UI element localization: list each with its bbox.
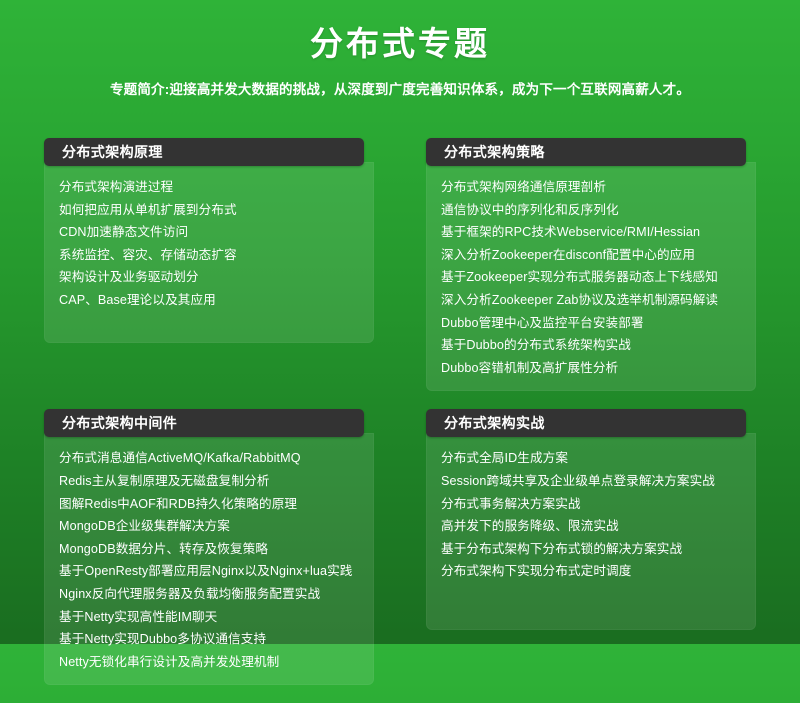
card-item[interactable]: 深入分析Zookeeper Zab协议及选举机制源码解读 <box>426 289 756 312</box>
card-item[interactable]: CDN加速静态文件访问 <box>44 221 374 244</box>
card-item[interactable]: 如何把应用从单机扩展到分布式 <box>44 199 374 222</box>
card-item[interactable]: CAP、Base理论以及其应用 <box>44 289 374 312</box>
card-item[interactable]: 基于Netty实现Dubbo多协议通信支持 <box>44 628 374 651</box>
card-grid: 分布式架构原理分布式架构演进过程如何把应用从单机扩展到分布式CDN加速静态文件访… <box>44 138 756 703</box>
course-card: 分布式架构原理分布式架构演进过程如何把应用从单机扩展到分布式CDN加速静态文件访… <box>44 138 374 391</box>
card-item[interactable]: Dubbo管理中心及监控平台安装部署 <box>426 312 756 335</box>
card-item[interactable]: 架构设计及业务驱动划分 <box>44 266 374 289</box>
card-item[interactable]: 基于Zookeeper实现分布式服务器动态上下线感知 <box>426 266 756 289</box>
card-item[interactable]: Dubbo容错机制及高扩展性分析 <box>426 357 756 380</box>
card-item[interactable]: 分布式全局ID生成方案 <box>426 447 756 470</box>
card-item[interactable]: 基于Netty实现高性能IM聊天 <box>44 606 374 629</box>
card-item[interactable]: 分布式事务解决方案实战 <box>426 493 756 516</box>
card-item[interactable]: 基于Dubbo的分布式系统架构实战 <box>426 334 756 357</box>
card-item[interactable]: 高并发下的服务降级、限流实战 <box>426 515 756 538</box>
card-item[interactable]: 基于框架的RPC技术Webservice/RMI/Hessian <box>426 221 756 244</box>
card-item[interactable]: Redis主从复制原理及无磁盘复制分析 <box>44 470 374 493</box>
card-item[interactable]: 图解Redis中AOF和RDB持久化策略的原理 <box>44 493 374 516</box>
hero-section: 分布式专题 专题简介:迎接高并发大数据的挑战，从深度到广度完善知识体系，成为下一… <box>0 0 800 100</box>
card-item[interactable]: 分布式架构下实现分布式定时调度 <box>426 560 756 583</box>
card-title: 分布式架构实战 <box>426 409 746 437</box>
page-title: 分布式专题 <box>0 22 800 66</box>
card-item[interactable]: Netty无锁化串行设计及高并发处理机制 <box>44 651 374 674</box>
card-title: 分布式架构原理 <box>44 138 364 166</box>
card-item[interactable]: Session跨域共享及企业级单点登录解决方案实战 <box>426 470 756 493</box>
page-subtitle: 专题简介:迎接高并发大数据的挑战，从深度到广度完善知识体系，成为下一个互联网高薪… <box>0 80 800 100</box>
card-item[interactable]: 系统监控、容灾、存储动态扩容 <box>44 244 374 267</box>
course-card: 分布式架构策略分布式架构网络通信原理剖析通信协议中的序列化和反序列化基于框架的R… <box>426 138 756 391</box>
card-title: 分布式架构中间件 <box>44 409 364 437</box>
page-root: 分布式专题 专题简介:迎接高并发大数据的挑战，从深度到广度完善知识体系，成为下一… <box>0 0 800 644</box>
card-item[interactable]: MongoDB企业级集群解决方案 <box>44 515 374 538</box>
card-item[interactable]: 通信协议中的序列化和反序列化 <box>426 199 756 222</box>
card-title: 分布式架构策略 <box>426 138 746 166</box>
card-item-list: 分布式架构网络通信原理剖析通信协议中的序列化和反序列化基于框架的RPC技术Web… <box>426 162 756 391</box>
card-item[interactable]: 分布式架构演进过程 <box>44 176 374 199</box>
card-item-list: 分布式消息通信ActiveMQ/Kafka/RabbitMQRedis主从复制原… <box>44 433 374 685</box>
card-item-list: 分布式全局ID生成方案Session跨域共享及企业级单点登录解决方案实战分布式事… <box>426 433 756 630</box>
card-item[interactable]: 分布式架构网络通信原理剖析 <box>426 176 756 199</box>
card-item[interactable]: 基于OpenResty部署应用层Nginx以及Nginx+lua实践 <box>44 560 374 583</box>
card-item[interactable]: MongoDB数据分片、转存及恢复策略 <box>44 538 374 561</box>
card-item[interactable]: 分布式消息通信ActiveMQ/Kafka/RabbitMQ <box>44 447 374 470</box>
card-item[interactable]: Nginx反向代理服务器及负载均衡服务配置实战 <box>44 583 374 606</box>
card-item[interactable]: 基于分布式架构下分布式锁的解决方案实战 <box>426 538 756 561</box>
card-item-list: 分布式架构演进过程如何把应用从单机扩展到分布式CDN加速静态文件访问系统监控、容… <box>44 162 374 343</box>
card-item[interactable]: 深入分析Zookeeper在disconf配置中心的应用 <box>426 244 756 267</box>
